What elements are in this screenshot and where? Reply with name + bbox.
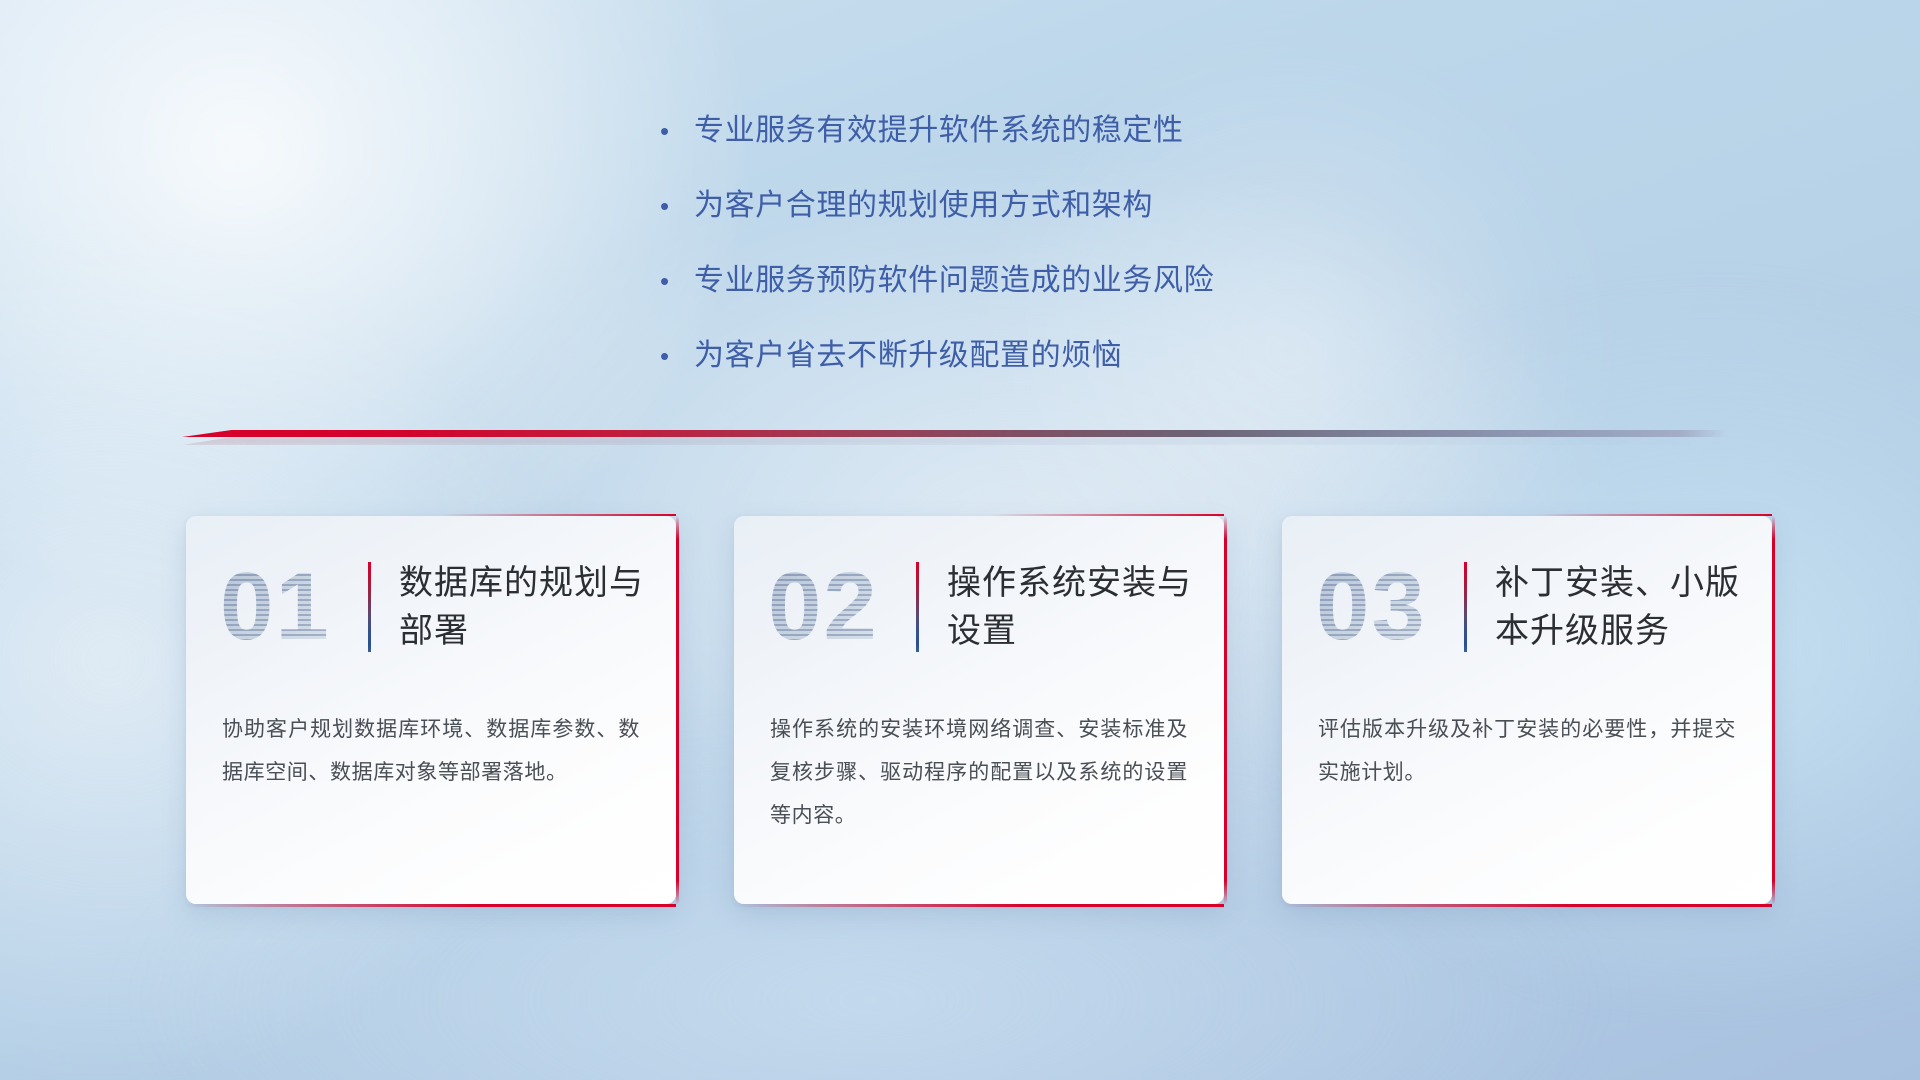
card-number-watermark: 03 <box>1316 559 1464 655</box>
card-divider-bar <box>916 562 919 652</box>
background-glow-top-left <box>0 0 740 600</box>
bullet-item-text: 专业服务有效提升软件系统的稳定性 <box>694 110 1184 152</box>
section-divider-line <box>182 430 1727 437</box>
bullet-item-1: • 专业服务有效提升软件系统的稳定性 <box>660 110 1420 154</box>
card-header: 03 补丁安装、小版本升级服务 <box>1282 516 1772 698</box>
card-description: 操作系统的安装环境网络调查、安装标准及复核步骤、驱动程序的配置以及系统的设置等内… <box>734 698 1224 837</box>
bullet-item-text: 为客户省去不断升级配置的烦恼 <box>694 335 1122 377</box>
bullet-item-text: 为客户合理的规划使用方式和架构 <box>694 185 1153 227</box>
card-accent-bottom <box>1282 904 1772 907</box>
card-description: 协助客户规划数据库环境、数据库参数、数据库空间、数据库对象等部署落地。 <box>186 698 676 794</box>
slide-canvas: • 专业服务有效提升软件系统的稳定性 • 为客户合理的规划使用方式和架构 • 专… <box>0 0 1920 1080</box>
bullet-dot-icon: • <box>660 185 694 227</box>
service-card-03[interactable]: 03 补丁安装、小版本升级服务 评估版本升级及补丁安装的必要性，并提交实施计划。 <box>1282 516 1772 904</box>
section-divider <box>182 424 1727 446</box>
card-accent-right <box>1224 516 1227 904</box>
card-accent-bottom <box>734 904 1224 907</box>
card-accent-right <box>1772 516 1775 904</box>
card-title: 数据库的规划与部署 <box>399 559 649 655</box>
bullet-item-4: • 为客户省去不断升级配置的烦恼 <box>660 335 1420 379</box>
card-accent-bottom <box>186 904 676 907</box>
benefits-bullet-list: • 专业服务有效提升软件系统的稳定性 • 为客户合理的规划使用方式和架构 • 专… <box>660 110 1420 410</box>
bullet-dot-icon: • <box>660 110 694 152</box>
bullet-item-3: • 专业服务预防软件问题造成的业务风险 <box>660 260 1420 304</box>
section-divider-shadow <box>182 437 1727 445</box>
card-number-watermark: 01 <box>220 559 368 655</box>
bullet-item-text: 专业服务预防软件问题造成的业务风险 <box>694 260 1214 302</box>
card-number-watermark: 02 <box>768 559 916 655</box>
service-card-list: 01 数据库的规划与部署 协助客户规划数据库环境、数据库参数、数据库空间、数据库… <box>186 516 1772 904</box>
service-card-02[interactable]: 02 操作系统安装与设置 操作系统的安装环境网络调查、安装标准及复核步骤、驱动程… <box>734 516 1224 904</box>
bullet-dot-icon: • <box>660 260 694 302</box>
bullet-item-2: • 为客户合理的规划使用方式和架构 <box>660 185 1420 229</box>
card-divider-bar <box>368 562 371 652</box>
card-header: 01 数据库的规划与部署 <box>186 516 676 698</box>
card-title: 操作系统安装与设置 <box>947 559 1197 655</box>
card-accent-right <box>676 516 679 904</box>
service-card-01[interactable]: 01 数据库的规划与部署 协助客户规划数据库环境、数据库参数、数据库空间、数据库… <box>186 516 676 904</box>
bullet-dot-icon: • <box>660 335 694 377</box>
card-header: 02 操作系统安装与设置 <box>734 516 1224 698</box>
card-divider-bar <box>1464 562 1467 652</box>
card-title: 补丁安装、小版本升级服务 <box>1495 559 1745 655</box>
card-description: 评估版本升级及补丁安装的必要性，并提交实施计划。 <box>1282 698 1772 794</box>
